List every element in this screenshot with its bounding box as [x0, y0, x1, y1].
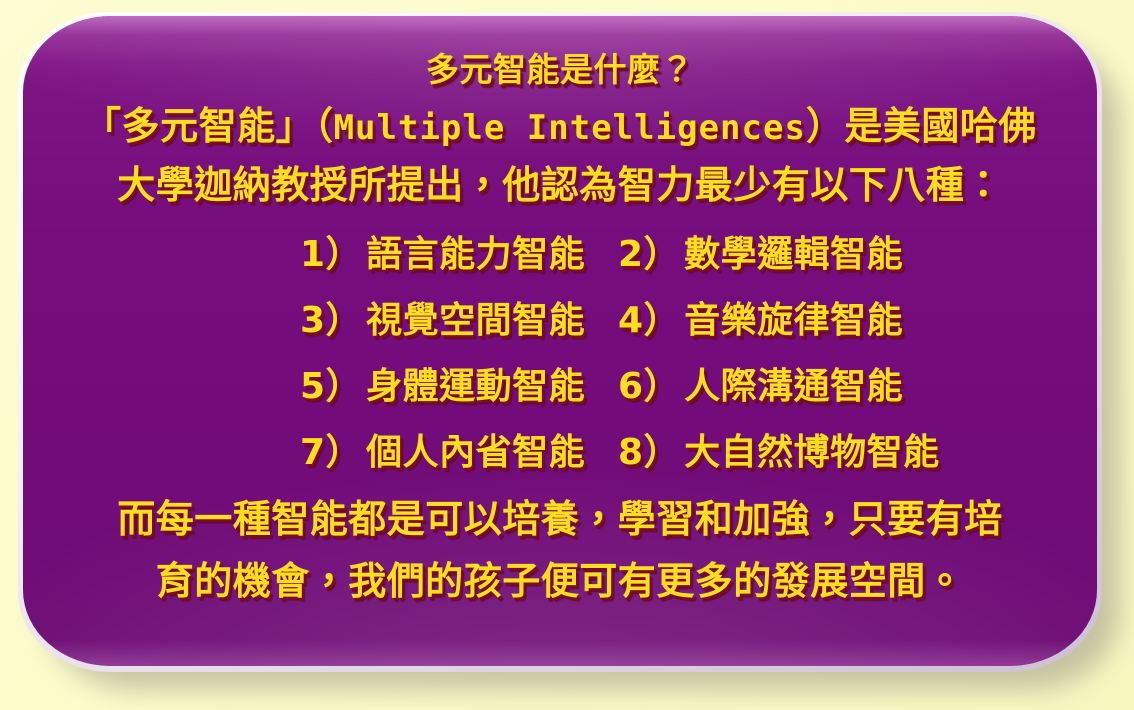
list-item-8: 8）大自然博物智能	[560, 419, 968, 485]
list-item-3: 3）視覺空間智能	[152, 287, 560, 353]
list-item-5: 5）身體運動智能	[152, 353, 560, 419]
purple-rounded-panel: 多元智能是什麼？ 「多元智能」（Multiple Intelligences）是…	[23, 16, 1097, 666]
list-item-5-label: 身體運動智能	[366, 365, 585, 406]
list-row: 3）視覺空間智能 4）音樂旋律智能	[51, 287, 1069, 353]
list-item-4: 4）音樂旋律智能	[560, 287, 968, 353]
intro-line-1-english: Multiple Intelligences	[334, 108, 806, 148]
list-item-8-label: 大自然博物智能	[684, 431, 940, 472]
list-item-7-label: 個人內省智能	[366, 431, 585, 472]
closing-line-1: 而每一種智能都是可以培養，學習和加強，只要有培	[51, 489, 1069, 551]
intro-line-1-suffix: ）是美國哈佛	[806, 106, 1037, 148]
list-row: 5）身體運動智能 6）人際溝通智能	[51, 353, 1069, 419]
list-item-8-number: 8）	[618, 432, 680, 473]
list-item-5-number: 5）	[300, 366, 362, 407]
list-item-7-number: 7）	[300, 432, 362, 473]
list-item-3-label: 視覺空間智能	[366, 299, 585, 340]
list-item-6-label: 人際溝通智能	[684, 365, 903, 406]
list-item-1: 1）語言能力智能	[152, 221, 560, 287]
list-item-4-label: 音樂旋律智能	[684, 299, 903, 340]
intro-line-1: 「多元智能」（Multiple Intelligences）是美國哈佛	[51, 98, 1069, 157]
list-item-3-number: 3）	[300, 300, 362, 341]
intelligence-list: 1）語言能力智能 2）數學邏輯智能 3）視覺空間智能 4）音樂旋律智能 5）身體…	[51, 221, 1069, 485]
list-item-1-number: 1）	[300, 234, 362, 275]
intro-line-1-prefix: 「多元智能」（	[83, 106, 334, 148]
list-item-4-number: 4）	[618, 300, 680, 341]
intro-line-2: 大學迦納教授所提出，他認為智力最少有以下八種：	[51, 157, 1069, 215]
slide-title: 多元智能是什麼？	[51, 50, 1069, 90]
list-item-2-number: 2）	[618, 234, 680, 275]
list-item-2-label: 數學邏輯智能	[684, 233, 903, 274]
list-row: 1）語言能力智能 2）數學邏輯智能	[51, 221, 1069, 287]
list-item-1-label: 語言能力智能	[366, 233, 585, 274]
list-item-2: 2）數學邏輯智能	[560, 221, 968, 287]
list-item-6: 6）人際溝通智能	[560, 353, 968, 419]
list-item-6-number: 6）	[618, 366, 680, 407]
list-row: 7）個人內省智能 8）大自然博物智能	[51, 419, 1069, 485]
list-item-7: 7）個人內省智能	[152, 419, 560, 485]
panel-content: 多元智能是什麼？ 「多元智能」（Multiple Intelligences）是…	[23, 16, 1097, 666]
slide-canvas: 多元智能是什麼？ 「多元智能」（Multiple Intelligences）是…	[0, 0, 1134, 710]
closing-line-2: 育的機會，我們的孩子便可有更多的發展空間。	[51, 551, 1069, 613]
